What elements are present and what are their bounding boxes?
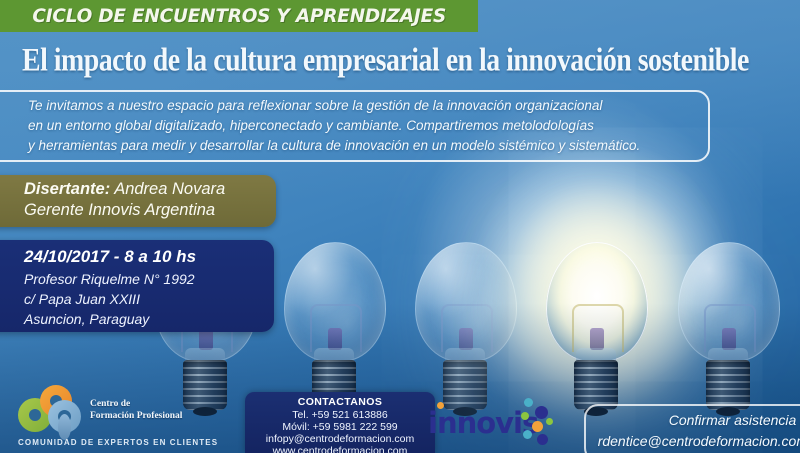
bulb-glow (476, 140, 726, 390)
confirm-email[interactable]: rdentice@centrodeformacion.com (584, 431, 800, 452)
bulb-neck (708, 348, 748, 374)
bulb-glass (415, 242, 517, 362)
cfp-name-line-2: Formación Profesional (90, 410, 182, 422)
bulb-base (574, 360, 618, 410)
innovis-bubble-2 (535, 406, 548, 419)
event-details-box: 24/10/2017 - 8 a 10 hs Profesor Riquelme… (0, 240, 274, 332)
series-ribbon: CICLO DE ENCUENTROS Y APRENDIZAJES (0, 0, 478, 32)
event-datetime: 24/10/2017 - 8 a 10 hs (24, 247, 196, 267)
description-line-2: en un entorno global digitalizado, hiper… (28, 116, 718, 136)
contact-tel: Tel. +59 521 613886 (245, 409, 435, 421)
event-poster: CICLO DE ENCUENTROS Y APRENDIZAJES El im… (0, 0, 800, 453)
contact-heading: CONTACTANOS (245, 396, 435, 408)
innovis-bubble-1 (524, 398, 533, 407)
cfp-logo-wordmark: Centro de Formación Profesional (90, 398, 182, 422)
innovis-bubble-7 (537, 434, 548, 445)
confirm-label: Confirmar asistencia a (584, 410, 800, 431)
innovis-logo: innovis (428, 396, 568, 452)
contact-mobile: Móvil: +59 5981 222 599 (245, 421, 435, 433)
innovis-bubble-5 (546, 418, 553, 425)
description-line-3: y herramientas para medir y desarrollar … (28, 136, 718, 156)
speaker-role: Gerente Innovis Argentina (24, 201, 215, 220)
bulb-neck (576, 348, 616, 374)
innovis-wordmark: innovis (428, 406, 538, 440)
event-city: Asuncion, Paraguay (24, 311, 149, 327)
event-address-line-2: c/ Papa Juan XXIII (24, 291, 140, 307)
bulb-glass (678, 242, 780, 362)
contact-panel: CONTACTANOS Tel. +59 521 613886 Móvil: +… (245, 392, 435, 453)
cfp-mark-tail (58, 414, 71, 440)
bulb-filament (310, 304, 362, 352)
description-line-1: Te invitamos a nuestro espacio para refl… (28, 96, 718, 116)
speaker-name: Andrea Novara (114, 180, 225, 198)
cfp-logo: Centro de Formación Profesional COMUNIDA… (18, 386, 248, 448)
series-kicker-text: CICLO DE ENCUENTROS Y APRENDIZAJES (32, 5, 446, 27)
bulb-base (706, 360, 750, 410)
event-address-line-1: Profesor Riquelme N° 1992 (24, 271, 195, 287)
description-text: Te invitamos a nuestro espacio para refl… (28, 96, 718, 156)
innovis-bubble-4 (532, 421, 543, 432)
contact-email[interactable]: infopy@centrodeformacion.com (245, 433, 435, 445)
bulb-filament (572, 304, 624, 352)
innovis-bubble-6 (523, 430, 532, 439)
speaker-name-line: Disertante: Andrea Novara (24, 180, 225, 199)
cfp-logo-mark-icon (18, 386, 84, 434)
page-title: El impacto de la cultura empresarial en … (22, 40, 778, 82)
bulb-glass (546, 242, 648, 362)
bulb-neck (314, 348, 354, 374)
bulb-filament (704, 304, 756, 352)
confirm-block: Confirmar asistencia a rdentice@centrode… (584, 410, 800, 452)
contact-website[interactable]: www.centrodeformacion.com (245, 445, 435, 453)
speaker-box: Disertante: Andrea Novara Gerente Innovi… (0, 175, 276, 227)
speaker-label: Disertante: (24, 180, 110, 198)
cfp-tagline: COMUNIDAD DE EXPERTOS EN CLIENTES (18, 438, 218, 447)
cfp-name-line-1: Centro de (90, 398, 182, 410)
bulb-filament (441, 304, 493, 352)
bulb-neck (445, 348, 485, 374)
innovis-bubble-3 (521, 412, 529, 420)
bulb-glass (284, 242, 386, 362)
bulb-neck (185, 348, 225, 374)
